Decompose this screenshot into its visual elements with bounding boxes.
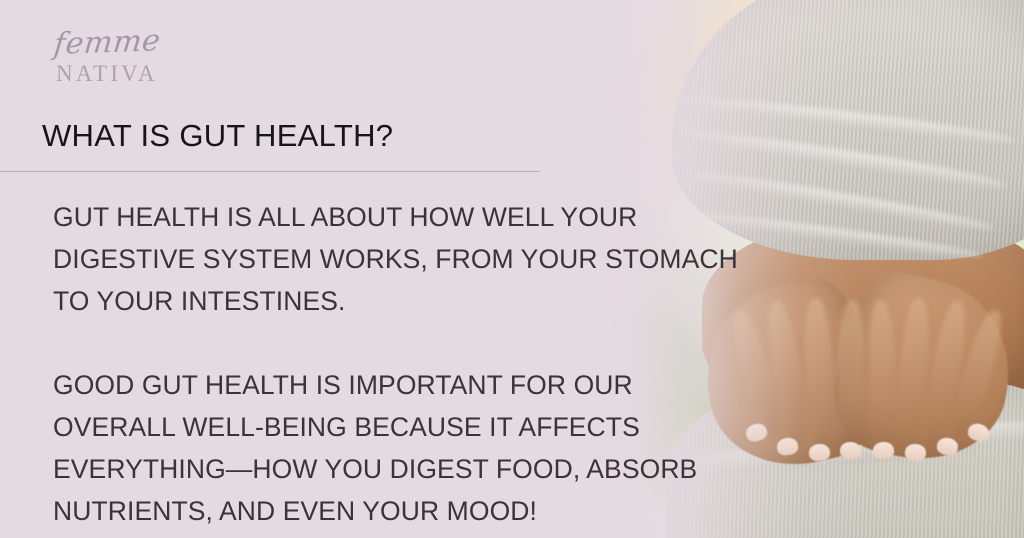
paragraph-line: EVERYTHING—HOW YOU DIGEST FOOD, ABSORB (53, 448, 683, 490)
paragraph-2: GOOD GUT HEALTH IS IMPORTANT FOR OUR OVE… (53, 364, 683, 532)
fingernail (904, 443, 926, 461)
paragraph-line: GUT HEALTH IS ALL ABOUT HOW WELL YOUR (53, 196, 683, 238)
brand-logo: femme NATIVA (42, 30, 232, 85)
paragraph-line: TO YOUR INTESTINES. (53, 280, 683, 322)
brand-logo-script: femme (52, 24, 234, 60)
paragraph-1: GUT HEALTH IS ALL ABOUT HOW WELL YOUR DI… (53, 196, 683, 322)
fingernail (840, 442, 862, 460)
body-copy: GUT HEALTH IS ALL ABOUT HOW WELL YOUR DI… (53, 196, 683, 532)
paragraph-line: NUTRIENTS, AND EVEN YOUR MOOD! (53, 490, 683, 532)
title-divider (0, 171, 540, 172)
brand-logo-wordmark: NATIVA (56, 62, 232, 85)
paragraph-line: GOOD GUT HEALTH IS IMPORTANT FOR OUR (53, 364, 683, 406)
fingernail (809, 443, 831, 461)
paragraph-line: OVERALL WELL-BEING BECAUSE IT AFFECTS (53, 406, 683, 448)
paragraph-line: DIGESTIVE SYSTEM WORKS, FROM YOUR STOMAC… (53, 238, 683, 280)
gut-health-slide: femme NATIVA WHAT IS GUT HEALTH? GUT HEA… (0, 0, 1024, 538)
fingernail (873, 442, 895, 460)
page-title: WHAT IS GUT HEALTH? (42, 118, 393, 154)
